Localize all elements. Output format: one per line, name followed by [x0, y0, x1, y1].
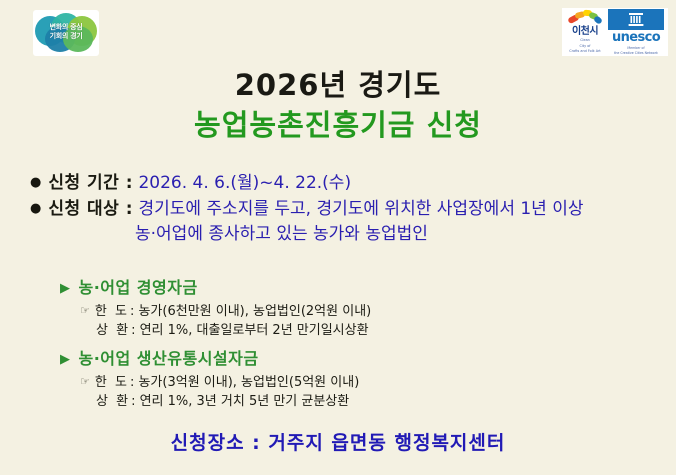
pointing-hand-icon: ☞ [80, 304, 90, 317]
bullet-value-target: 경기도에 주소지를 두고, 경기도에 위치한 사업장에서 1년 이상 [138, 199, 583, 219]
bullet-value-period: 2026. 4. 6.(월)~4. 22.(수) [138, 173, 351, 193]
bullet-continuation-target: 농·어업에 종사하고 있는 농가와 농업법인 [30, 222, 660, 247]
icheon-sub1: Clean [565, 38, 605, 43]
icheon-sub2: City of [565, 44, 605, 49]
fund-repay-sep: : [131, 323, 135, 338]
unesco-caption1: Member of [608, 46, 664, 50]
fund-repay-text: 연리 1%, 3년 거치 5년 만기 균분상환 [140, 394, 350, 409]
fund-repay-key: 상 환 [96, 394, 130, 409]
gyeonggi-logo-text: 변화의 중심 기회의 경기 [33, 23, 99, 41]
unesco-emblem-bar [608, 9, 664, 30]
unesco-caption2: the Creative Cities Network [608, 51, 664, 55]
fund-heading-facility: ▶농·어업 생산유통시설자금 [60, 347, 660, 372]
fund-limit-key: 한 도 [95, 304, 129, 319]
gyeonggi-logo-line2: 기회의 경기 [33, 32, 99, 41]
fund-limit-sep: : [130, 304, 134, 319]
bullet-marker-icon: ● [30, 201, 41, 216]
triangle-marker-icon: ▶ [60, 281, 71, 296]
right-logo-group: 이천시 Clean City of Crafts and Folk Art un… [562, 8, 668, 56]
fund-repay-sep: : [131, 394, 135, 409]
bullet-row-period: ●신청 기간 : 2026. 4. 6.(월)~4. 22.(수) [30, 170, 660, 196]
application-location-footer: 신청장소 : 거주지 읍면동 행정복지센터 [0, 428, 676, 455]
fund-repay-line-management: 상 환: 연리 1%, 대출일로부터 2년 만기일시상환 [60, 321, 660, 340]
icheon-city-logo: 이천시 Clean City of Crafts and Folk Art [565, 10, 605, 54]
fund-limit-text: 농가(3억원 이내), 농업법인(5억원 이내) [138, 375, 359, 390]
unesco-logo: unesco Member of the Creative Cities Net… [608, 9, 664, 56]
fund-heading-text: 농·어업 생산유통시설자금 [79, 349, 259, 368]
fund-heading-text: 농·어업 경영자금 [79, 278, 198, 297]
pointing-hand-icon: ☞ [80, 375, 90, 388]
icheon-city-name: 이천시 [565, 27, 605, 37]
fund-limit-key: 한 도 [95, 375, 129, 390]
fund-block-management: ▶농·어업 경영자금 ☞한 도: 농가(6천만원 이내), 농업법인(2억원 이… [60, 276, 660, 340]
triangle-marker-icon: ▶ [60, 352, 71, 367]
fund-limit-line-facility: ☞한 도: 농가(3억원 이내), 농업법인(5억원 이내) [60, 372, 660, 392]
icheon-sub3: Crafts and Folk Art [565, 49, 605, 54]
unesco-wordmark: unesco [608, 31, 664, 45]
icheon-brush-strokes-icon [566, 10, 604, 26]
fund-block-facility: ▶농·어업 생산유통시설자금 ☞한 도: 농가(3억원 이내), 농업법인(5억… [60, 347, 660, 411]
bullet-label-period: 신청 기간 : [48, 173, 133, 193]
gyeonggi-province-logo: 변화의 중심 기회의 경기 [33, 10, 99, 56]
fund-repay-key: 상 환 [96, 323, 130, 338]
fund-repay-text: 연리 1%, 대출일로부터 2년 만기일시상환 [140, 323, 369, 338]
fund-section-list: ▶농·어업 경영자금 ☞한 도: 농가(6천만원 이내), 농업법인(2억원 이… [60, 276, 660, 411]
gyeonggi-logo-line1: 변화의 중심 [33, 23, 99, 32]
poster-canvas: 변화의 중심 기회의 경기 이천시 Clean City of Crafts a… [0, 0, 676, 475]
poster-title-line2: 농업농촌진흥기금 신청 [0, 102, 676, 144]
bullet-marker-icon: ● [30, 175, 41, 190]
fund-heading-management: ▶농·어업 경영자금 [60, 276, 660, 301]
bullet-label-target: 신청 대상 : [48, 199, 133, 219]
fund-limit-text: 농가(6천만원 이내), 농업법인(2억원 이내) [138, 304, 371, 319]
bullet-list: ●신청 기간 : 2026. 4. 6.(월)~4. 22.(수) ●신청 대상… [30, 170, 660, 247]
fund-repay-line-facility: 상 환: 연리 1%, 3년 거치 5년 만기 균분상환 [60, 392, 660, 411]
fund-limit-line-management: ☞한 도: 농가(6천만원 이내), 농업법인(2억원 이내) [60, 301, 660, 321]
fund-limit-sep: : [130, 375, 134, 390]
poster-title-line1: 2026년 경기도 [0, 62, 676, 104]
bullet-row-target: ●신청 대상 : 경기도에 주소지를 두고, 경기도에 위치한 사업장에서 1년… [30, 196, 660, 222]
unesco-temple-icon [628, 12, 644, 27]
